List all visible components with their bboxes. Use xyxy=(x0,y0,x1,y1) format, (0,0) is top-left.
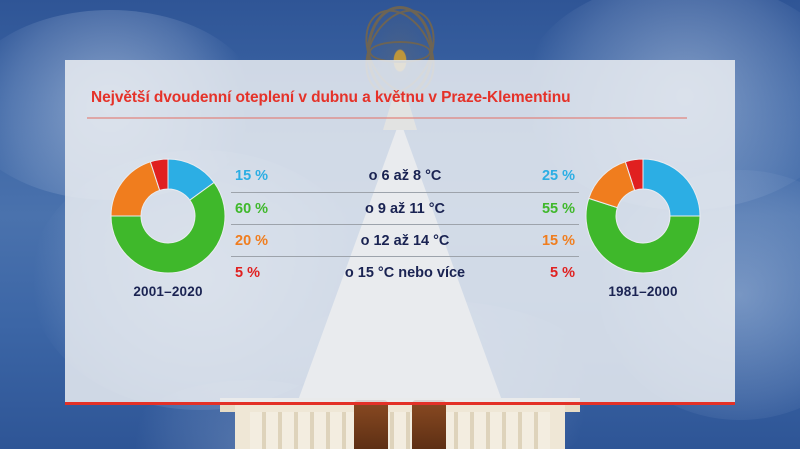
range-label: o 15 °C nebo více xyxy=(303,265,507,281)
table-row: 60 % o 9 až 11 °C 55 % xyxy=(231,192,579,224)
range-label: o 6 až 8 °C xyxy=(303,168,507,184)
donut-svg-right xyxy=(583,156,703,276)
table-row: 15 % o 6 až 8 °C 25 % xyxy=(231,160,579,192)
left-percent: 60 % xyxy=(231,201,303,217)
range-label: o 12 až 14 °C xyxy=(303,233,507,249)
legend-table: 15 % o 6 až 8 °C 25 % 60 % o 9 až 11 °C … xyxy=(231,160,579,288)
left-percent: 15 % xyxy=(231,168,303,184)
title-divider xyxy=(87,117,687,119)
donut-label-right: 1981–2000 xyxy=(575,284,711,299)
right-percent: 55 % xyxy=(507,201,579,217)
tower-columns xyxy=(250,412,550,449)
table-row: 5 % o 15 °C nebo více 5 % xyxy=(231,256,579,288)
donut-chart-2001-2020: 2001–2020 xyxy=(100,156,236,299)
right-percent: 15 % xyxy=(507,233,579,249)
donut-segment xyxy=(643,159,700,216)
left-percent: 20 % xyxy=(231,233,303,249)
right-percent: 25 % xyxy=(507,168,579,184)
donut-svg-left xyxy=(108,156,228,276)
page-title: Největší dvoudenní oteplení v dubnu a kv… xyxy=(91,89,570,107)
range-label: o 9 až 11 °C xyxy=(303,201,507,217)
ironwork-ornament-right xyxy=(412,400,446,449)
ironwork-ornament-left xyxy=(354,400,388,449)
left-percent: 5 % xyxy=(231,265,303,281)
table-row: 20 % o 12 až 14 °C 15 % xyxy=(231,224,579,256)
screenshot-stage: Největší dvoudenní oteplení v dubnu a kv… xyxy=(0,0,800,449)
donut-segment xyxy=(111,162,160,216)
infographic-panel: Největší dvoudenní oteplení v dubnu a kv… xyxy=(65,60,735,405)
right-percent: 5 % xyxy=(507,265,579,281)
donut-chart-1981-2000: 1981–2000 xyxy=(575,156,711,299)
donut-label-left: 2001–2020 xyxy=(100,284,236,299)
